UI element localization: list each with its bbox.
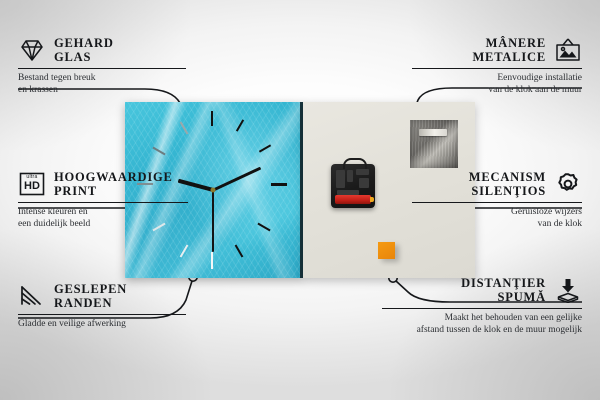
feature-desc-line2: een duidelijk beeld	[18, 219, 190, 231]
hour-tick	[257, 223, 270, 232]
beveled-edges-icon	[18, 283, 46, 309]
diamond-icon	[18, 37, 46, 63]
feature-rule	[382, 308, 582, 309]
second-hand	[212, 190, 214, 252]
mechanism-detail	[347, 170, 353, 182]
hour-tick	[211, 111, 213, 126]
feature-title-line1: HOOGWAARDIGE	[54, 170, 173, 184]
ultra-hd-icon: ultra HD	[18, 171, 46, 197]
battery	[335, 195, 371, 204]
feature-desc-line1: Geruisloze wijzers	[412, 207, 582, 219]
hour-tick	[271, 183, 287, 186]
hour-tick	[180, 244, 189, 257]
feature-tempered-glass[interactable]: GEHARD GLAS Bestand tegen breuk en krass…	[18, 36, 188, 96]
gear-icon	[554, 171, 582, 197]
infographic-canvas: GEHARD GLAS Bestand tegen breuk en krass…	[0, 0, 600, 400]
feature-title-line1: MECANISM	[469, 170, 546, 184]
feature-desc-line2: en krassen	[18, 85, 188, 97]
feature-header: MECANISM SILENŢIOS	[412, 170, 582, 198]
feature-rule	[18, 202, 188, 203]
feature-header: DISTANŢIER SPUMĂ	[382, 276, 582, 304]
mechanism-box	[331, 164, 375, 208]
clock-hub	[210, 188, 215, 193]
mechanism-detail	[359, 178, 369, 188]
foam-spacer	[378, 242, 395, 259]
hour-tick	[180, 121, 189, 134]
feature-header: GEHARD GLAS	[18, 36, 188, 64]
feature-desc-line1: Intense kleuren en	[18, 207, 190, 219]
feature-header: MÂNERE METALICE	[412, 36, 582, 64]
hanger-slot	[419, 129, 447, 136]
feature-rule	[18, 68, 186, 69]
feature-metal-handles[interactable]: MÂNERE METALICE Eenvoudige installatie v…	[412, 36, 582, 96]
feature-title-line2: RANDEN	[54, 296, 127, 310]
mechanism-detail	[356, 169, 369, 175]
feature-desc-line1: Eenvoudige installatie	[412, 73, 582, 85]
hour-tick	[152, 147, 165, 156]
ultra-hd-icon-large-text: HD	[18, 180, 46, 192]
feature-desc-line1: Gladde en veilige afwerking	[18, 319, 188, 331]
feature-title-line1: MÂNERE	[472, 36, 546, 50]
hour-tick	[236, 119, 244, 131]
feature-title-line2: SILENŢIOS	[469, 184, 546, 198]
arrow-on-pad-icon	[554, 277, 582, 303]
feature-title-line2: PRINT	[54, 184, 173, 198]
feature-rule	[412, 202, 582, 203]
feature-rule	[412, 68, 582, 69]
feature-title-line2: GLAS	[54, 50, 114, 64]
feature-header: ultra HD HOOGWAARDIGE PRINT	[18, 170, 190, 198]
feature-desc-line1: Bestand tegen breuk	[18, 73, 188, 85]
feature-title-line1: DISTANŢIER	[461, 276, 546, 290]
mechanism-detail	[336, 170, 345, 188]
feature-desc-line2: afstand tussen de klok en de muur mogeli…	[382, 325, 582, 337]
feature-silent-mechanism[interactable]: MECANISM SILENŢIOS Geruisloze wijzers va…	[412, 170, 582, 230]
feature-desc-line2: van de klok aan de muur	[412, 85, 582, 97]
mechanism-hanger-loop	[343, 158, 367, 169]
framed-picture-hook-icon	[554, 37, 582, 63]
feature-title-line2: METALICE	[472, 50, 546, 64]
hanger-plate	[410, 120, 458, 168]
feature-high-quality-print[interactable]: ultra HD HOOGWAARDIGE PRINT Intense kleu…	[18, 170, 190, 230]
feature-title-line1: GESLEPEN	[54, 282, 127, 296]
feature-title-line1: GEHARD	[54, 36, 114, 50]
feature-foam-spacer[interactable]: DISTANŢIER SPUMĂ Maakt het behouden van …	[382, 276, 582, 336]
feature-desc-line1: Maakt het behouden van een gelijke	[382, 313, 582, 325]
hour-tick	[211, 252, 213, 269]
minute-hand	[212, 167, 260, 192]
feature-ground-edges[interactable]: GESLEPEN RANDEN Gladde en veilige afwerk…	[18, 282, 188, 331]
feature-title-line2: SPUMĂ	[461, 290, 546, 304]
feature-rule	[18, 314, 186, 315]
hour-tick	[235, 244, 244, 257]
feature-header: GESLEPEN RANDEN	[18, 282, 188, 310]
hour-tick	[259, 144, 271, 152]
feature-desc-line2: van de klok	[412, 219, 582, 231]
